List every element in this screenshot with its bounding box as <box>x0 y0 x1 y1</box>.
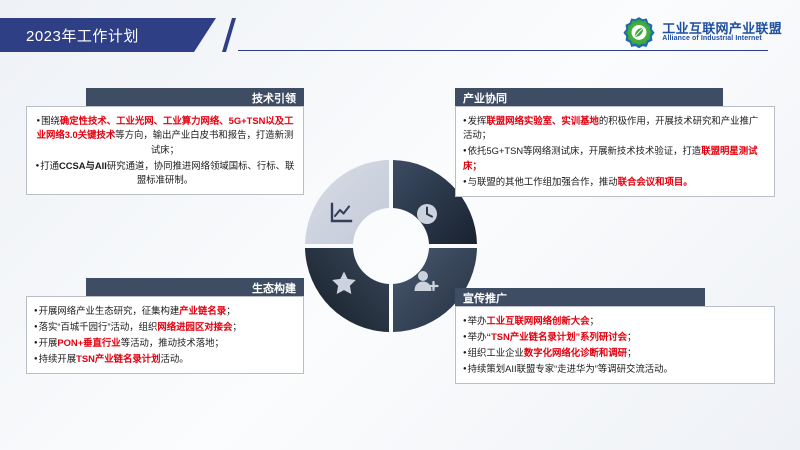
card-body: 发挥联盟网络实验室、实训基地的积极作用，开展技术研究和产业推广活动；依托5G+T… <box>455 106 775 197</box>
list-item: 持续开展TSN产业链名录计划活动。 <box>34 352 296 367</box>
line-chart-icon <box>329 202 353 224</box>
card-ecosystem-building: 生态构建 开展网络产业生态研究，征集构建产业链名录；落实“百城千园行”活动，组织… <box>26 278 304 374</box>
card-industry-collaboration: 产业协同 发挥联盟网络实验室、实训基地的积极作用，开展技术研究和产业推广活动；依… <box>455 88 775 197</box>
text-run: 工业互联网网络创新大会 <box>486 315 589 326</box>
card-body: 围绕确定性技术、工业光网、工业算力网络、5G+TSN以及工业网络3.0关键技术等… <box>26 106 304 195</box>
text-run: TSN产业链名录计划 <box>76 353 160 364</box>
text-run: 持续开展 <box>39 353 77 364</box>
list-item: 依托5G+TSN等网络测试床，开展新技术技术验证，打造联盟明星测试床； <box>463 144 767 173</box>
text-run: 研究通道，协同推进网络领域国标、行标、联盟标准研制。 <box>107 160 295 186</box>
card-title: 产业协同 <box>463 90 507 106</box>
text-run: 联合会议和项目。 <box>618 176 693 187</box>
card-body: 举办工业互联网网络创新大会；举办“TSN产业链名录计划”系列研讨会；组织工业企业… <box>455 306 775 384</box>
list-item: 举办工业互联网网络创新大会； <box>463 314 767 329</box>
text-run: 网络进园区对接会 <box>157 321 232 332</box>
card-title-bar: 产业协同 <box>455 88 723 107</box>
text-run: 活动。 <box>161 353 189 364</box>
text-run: 持续策划AII联盟专家“走进华为”等调研交流活动。 <box>468 363 673 374</box>
list-item: 举办“TSN产业链名录计划”系列研讨会； <box>463 330 767 345</box>
list-item: 组织工业企业数字化网络化诊断和调研； <box>463 346 767 361</box>
text-run: 开展网络产业生态研究，征集构建 <box>39 305 180 316</box>
list-item: 与联盟的其他工作组加强合作，推动联合会议和项目。 <box>463 175 767 190</box>
card-title-bar: 宣传推广 <box>455 288 705 307</box>
card-title: 技术引领 <box>252 90 296 106</box>
card-body: 开展网络产业生态研究，征集构建产业链名录；落实“百城千园行”活动，组织网络进园区… <box>26 296 304 374</box>
org-logo: 工业互联网产业联盟 Alliance of Industrial Interne… <box>622 15 782 49</box>
text-run: 发挥 <box>468 115 487 126</box>
list-item: 开展网络产业生态研究，征集构建产业链名录； <box>34 304 296 319</box>
card-title: 宣传推广 <box>463 290 507 306</box>
text-run: ； <box>627 347 636 358</box>
card-title-bar: 生态构建 <box>86 278 304 297</box>
card-title-bar: 技术引领 <box>86 88 304 107</box>
list-item: 围绕确定性技术、工业光网、工业算力网络、5G+TSN以及工业网络3.0关键技术等… <box>34 114 296 158</box>
text-run: 举办 <box>468 331 487 342</box>
text-run: 数字化网络化诊断和调研 <box>524 347 627 358</box>
list-item: 开展PON+垂直行业等活动，推动技术落地； <box>34 336 296 351</box>
banner-slash-decoration <box>222 18 236 52</box>
list-item: 发挥联盟网络实验室、实训基地的积极作用，开展技术研究和产业推广活动； <box>463 114 767 143</box>
text-run: 打通 <box>40 160 59 171</box>
text-run: ； <box>590 315 599 326</box>
text-run: CCSA与AII <box>59 160 107 171</box>
page-header: 2023年工作计划 工业互联网产业联盟 Alliance of Industri… <box>0 0 800 68</box>
text-run: 开展 <box>39 337 58 348</box>
logo-name-en: Alliance of Industrial Internet <box>662 35 782 42</box>
header-divider-line <box>238 50 768 51</box>
text-run: 等方向，输出产业白皮书和报告，打造新测试床； <box>115 129 293 155</box>
text-run: 围绕 <box>41 115 60 126</box>
text-run: 等活动，推动技术落地； <box>121 337 224 348</box>
text-run: 依托5G+TSN等网络测试床，开展新技术技术验证，打造 <box>468 145 702 156</box>
clock-icon <box>415 202 439 226</box>
card-promotion: 宣传推广 举办工业互联网网络创新大会；举办“TSN产业链名录计划”系列研讨会；组… <box>455 288 775 384</box>
logo-name-cn: 工业互联网产业联盟 <box>662 22 782 36</box>
text-run: “TSN产业链名录计划”系列研讨会 <box>486 331 627 342</box>
title-banner: 2023年工作计划 <box>0 18 216 52</box>
donut-diagram <box>303 158 479 334</box>
text-run: 与联盟的其他工作组加强合作，推动 <box>468 176 618 187</box>
list-item: 打通CCSA与AII研究通道，协同推进网络领域国标、行标、联盟标准研制。 <box>34 159 296 188</box>
list-item: 持续策划AII联盟专家“走进华为”等调研交流活动。 <box>463 362 767 377</box>
text-run: PON+垂直行业 <box>57 337 120 348</box>
text-run: ； <box>627 331 636 342</box>
list-item: 落实“百城千园行”活动，组织网络进园区对接会； <box>34 320 296 335</box>
text-run: 落实“百城千园行”活动，组织 <box>39 321 158 332</box>
text-run: 联盟网络实验室、实训基地 <box>486 115 599 126</box>
star-icon <box>331 270 357 295</box>
text-run: 产业链名录 <box>179 305 226 316</box>
page-title: 2023年工作计划 <box>0 25 139 46</box>
text-run: 举办 <box>468 315 487 326</box>
card-technology-leadership: 技术引领 围绕确定性技术、工业光网、工业算力网络、5G+TSN以及工业网络3.0… <box>26 88 304 195</box>
text-run: ； <box>226 305 235 316</box>
text-run: 组织工业企业 <box>468 347 524 358</box>
gear-leaf-logo-icon <box>622 15 656 49</box>
text-run: ； <box>232 321 241 332</box>
add-user-icon <box>413 270 439 292</box>
card-title: 生态构建 <box>252 280 296 296</box>
